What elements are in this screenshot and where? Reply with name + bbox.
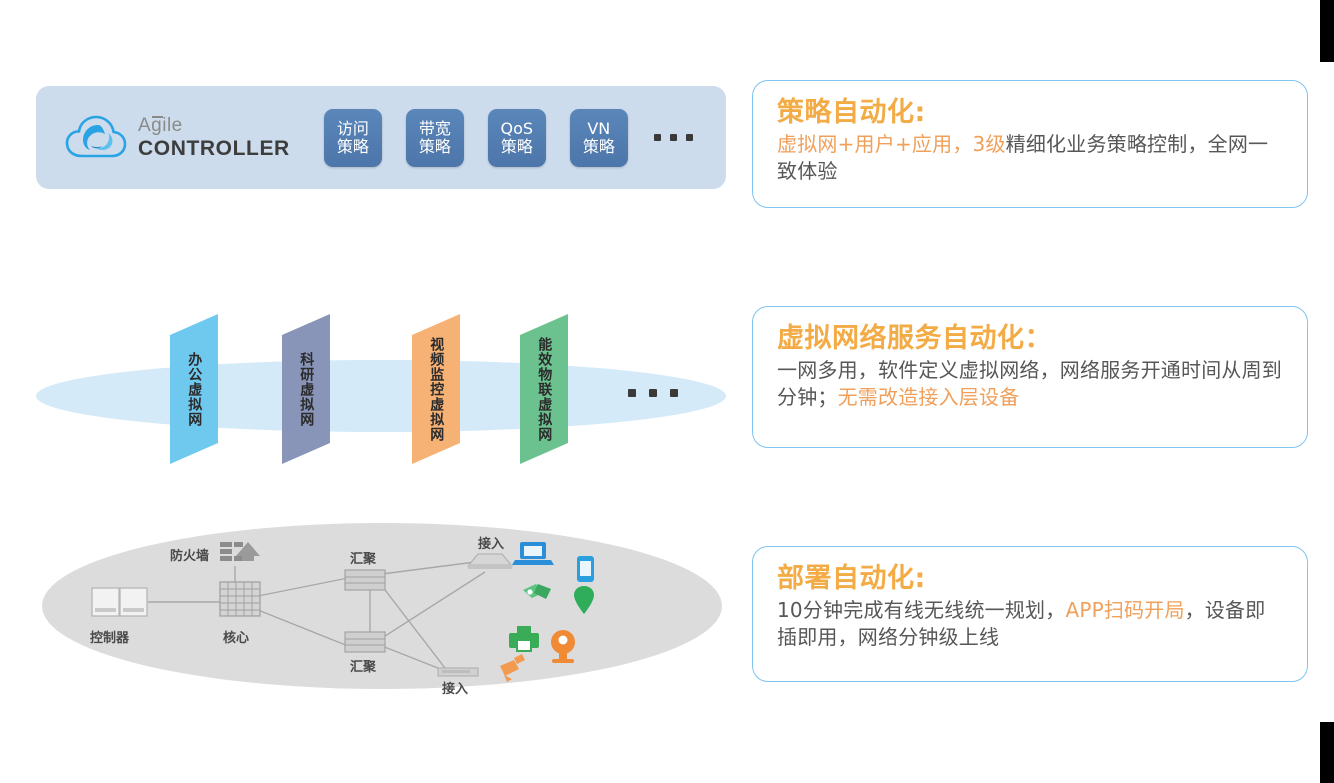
endpoint-tablet-icon bbox=[577, 556, 594, 582]
logo-wordmark: Agile CONTROLLER bbox=[138, 116, 290, 159]
policy-chip-access[interactable]: 访问 策略 bbox=[324, 109, 382, 167]
node-aggregation-bottom-icon bbox=[345, 632, 385, 652]
vn-plane-video-surveillance[interactable]: 视频监控虚拟网 bbox=[412, 314, 460, 464]
node-access-top-icon bbox=[468, 554, 512, 569]
policy-chip-bandwidth[interactable]: 带宽 策略 bbox=[406, 109, 464, 167]
vn-plane-energy-iot[interactable]: 能效物联虚拟网 bbox=[520, 314, 568, 464]
diagram-column: Agile CONTROLLER 访问 策略 带宽 策略 QoS 策略 bbox=[0, 0, 748, 783]
vn-more-ellipsis-icon bbox=[628, 389, 678, 397]
node-core-switch-icon bbox=[220, 582, 260, 616]
node-aggregation-top-icon bbox=[345, 570, 385, 590]
vn-plane-label: 能效物联虚拟网 bbox=[536, 337, 553, 442]
topology-links bbox=[148, 562, 485, 672]
vn-plane-label: 科研虚拟网 bbox=[298, 352, 315, 427]
virtual-network-planes: 办公虚拟网 科研虚拟网 视频监控虚拟网 能效物联虚拟网 bbox=[20, 300, 730, 500]
topology-label-agg-top: 汇聚 bbox=[350, 548, 376, 567]
info-card-deployment-automation: 部署自动化: 10分钟完成有线无线统一规划，APP扫码开局，设备即插即用，网络分… bbox=[752, 546, 1308, 682]
card-body-text: 10分钟完成有线无线统一规划， bbox=[777, 598, 1065, 622]
card-title: 部署自动化: bbox=[777, 563, 1285, 595]
macron-mark bbox=[152, 116, 163, 118]
topology-label-access-bottom: 接入 bbox=[442, 678, 468, 697]
card-body: 一网多用，软件定义虚拟网络，网络服务开通时间从周到分钟；无需改造接入层设备 bbox=[777, 357, 1285, 412]
node-access-bottom-icon bbox=[438, 668, 478, 676]
right-edge-bar-top bbox=[1320, 0, 1334, 62]
cloud-swirl-icon bbox=[64, 112, 128, 164]
topology-label-core: 核心 bbox=[223, 627, 249, 646]
topology-label-agg-bottom: 汇聚 bbox=[350, 656, 376, 675]
policy-chip-qos[interactable]: QoS 策略 bbox=[488, 109, 546, 167]
agile-controller-bar: Agile CONTROLLER 访问 策略 带宽 策略 QoS 策略 bbox=[36, 86, 726, 189]
logo-controller-label: CONTROLLER bbox=[138, 138, 290, 159]
topology-label-firewall: 防火墙 bbox=[170, 545, 209, 564]
vn-plane-office[interactable]: 办公虚拟网 bbox=[170, 314, 218, 464]
vn-plane-label: 视频监控虚拟网 bbox=[428, 337, 445, 442]
logo-agile-label: Agile bbox=[138, 115, 183, 136]
endpoint-cctv-camera-icon bbox=[500, 654, 525, 682]
card-body: 虚拟网+用户+应用，3级精细化业务策略控制，全网一致体验 bbox=[777, 131, 1285, 186]
endpoint-dome-camera-icon bbox=[551, 630, 575, 663]
policy-chip-line1: 带宽 bbox=[419, 120, 451, 138]
policy-chip-line2: 策略 bbox=[583, 138, 615, 156]
endpoint-sensor-nodes-icon bbox=[523, 584, 551, 599]
policy-chip-vn[interactable]: VN 策略 bbox=[570, 109, 628, 167]
card-body-highlight: 无需改造接入层设备 bbox=[838, 385, 1020, 409]
card-body-highlight: APP扫码开局 bbox=[1065, 598, 1184, 622]
vn-plane-research[interactable]: 科研虚拟网 bbox=[282, 314, 330, 464]
node-firewall-icon bbox=[220, 542, 260, 561]
card-body-highlight: 虚拟网+用户+应用，3级 bbox=[777, 132, 1006, 156]
network-backdrop-ellipse bbox=[36, 360, 726, 432]
policy-chip-line2: 策略 bbox=[501, 138, 533, 156]
policy-chip-line1: 访问 bbox=[337, 120, 369, 138]
network-topology-diagram: 控制器 防火墙 核心 汇聚 汇聚 接入 接入 bbox=[30, 520, 730, 695]
node-controller-icon bbox=[92, 588, 147, 616]
info-card-virtual-network-service-automation: 虚拟网络服务自动化： 一网多用，软件定义虚拟网络，网络服务开通时间从周到分钟；无… bbox=[752, 306, 1308, 448]
card-body: 10分钟完成有线无线统一规划，APP扫码开局，设备即插即用，网络分钟级上线 bbox=[777, 597, 1285, 652]
policy-chip-line2: 策略 bbox=[337, 138, 369, 156]
policy-chip-line2: 策略 bbox=[419, 138, 451, 156]
logo-agile-text: Agile bbox=[138, 116, 290, 135]
policy-more-ellipsis-icon bbox=[654, 134, 693, 141]
endpoint-location-pin-icon bbox=[574, 586, 594, 614]
slide-canvas: Agile CONTROLLER 访问 策略 带宽 策略 QoS 策略 bbox=[0, 0, 1334, 783]
topology-label-controller: 控制器 bbox=[90, 627, 129, 646]
card-title: 策略自动化: bbox=[777, 97, 1285, 129]
topology-label-access-top: 接入 bbox=[478, 533, 504, 552]
endpoint-laptop-icon bbox=[512, 542, 554, 565]
agile-controller-logo: Agile CONTROLLER bbox=[64, 112, 290, 164]
policy-chip-row: 访问 策略 带宽 策略 QoS 策略 VN 策略 bbox=[324, 109, 693, 167]
policy-chip-line1: VN bbox=[587, 120, 610, 138]
endpoint-printer-icon bbox=[509, 626, 539, 651]
right-edge-bar-bottom bbox=[1320, 722, 1334, 783]
policy-chip-line1: QoS bbox=[501, 120, 534, 138]
topology-graphics bbox=[30, 520, 730, 695]
card-title: 虚拟网络服务自动化： bbox=[777, 323, 1285, 355]
info-card-policy-automation: 策略自动化: 虚拟网+用户+应用，3级精细化业务策略控制，全网一致体验 bbox=[752, 80, 1308, 208]
vn-plane-label: 办公虚拟网 bbox=[186, 352, 203, 427]
